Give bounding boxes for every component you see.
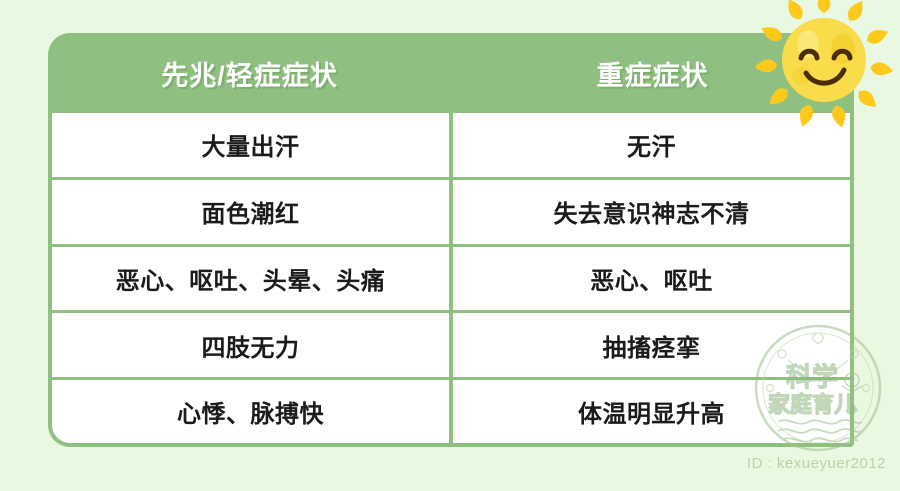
cell-mild-3: 恶心、呕吐、头晕、头痛 <box>52 247 449 311</box>
cell-mild-1: 大量出汗 <box>52 113 449 177</box>
cell-severe-1: 无汗 <box>453 113 850 177</box>
cell-mild-5: 心悸、脉搏快 <box>52 380 449 443</box>
poster-canvas: 先兆/轻症症状 重症症状 大量出汗 无汗 面色潮红 失去意识神志不清 恶心、呕吐… <box>0 0 900 491</box>
table-row: 四肢无力 抽搐痉挛 <box>48 313 854 380</box>
table-row: 大量出汗 无汗 <box>48 113 854 180</box>
cell-severe-3: 恶心、呕吐 <box>453 247 850 311</box>
table-row: 面色潮红 失去意识神志不清 <box>48 180 854 247</box>
cell-severe-4: 抽搐痉挛 <box>453 313 850 377</box>
table-header-row: 先兆/轻症症状 重症症状 <box>48 33 854 113</box>
table-row: 恶心、呕吐、头晕、头痛 恶心、呕吐 <box>48 247 854 314</box>
cell-severe-2: 失去意识神志不清 <box>453 180 850 244</box>
cell-mild-2: 面色潮红 <box>52 180 449 244</box>
symptoms-table: 先兆/轻症症状 重症症状 大量出汗 无汗 面色潮红 失去意识神志不清 恶心、呕吐… <box>48 33 854 447</box>
watermark-id-label: ID : kexueyuer2012 <box>747 455 886 472</box>
table-row: 心悸、脉搏快 体温明显升高 <box>48 380 854 447</box>
column-header-mild: 先兆/轻症症状 <box>48 33 451 113</box>
cell-mild-4: 四肢无力 <box>52 313 449 377</box>
cell-severe-5: 体温明显升高 <box>453 380 850 443</box>
column-header-severe: 重症症状 <box>451 33 854 113</box>
table-body: 大量出汗 无汗 面色潮红 失去意识神志不清 恶心、呕吐、头晕、头痛 恶心、呕吐 … <box>48 113 854 447</box>
